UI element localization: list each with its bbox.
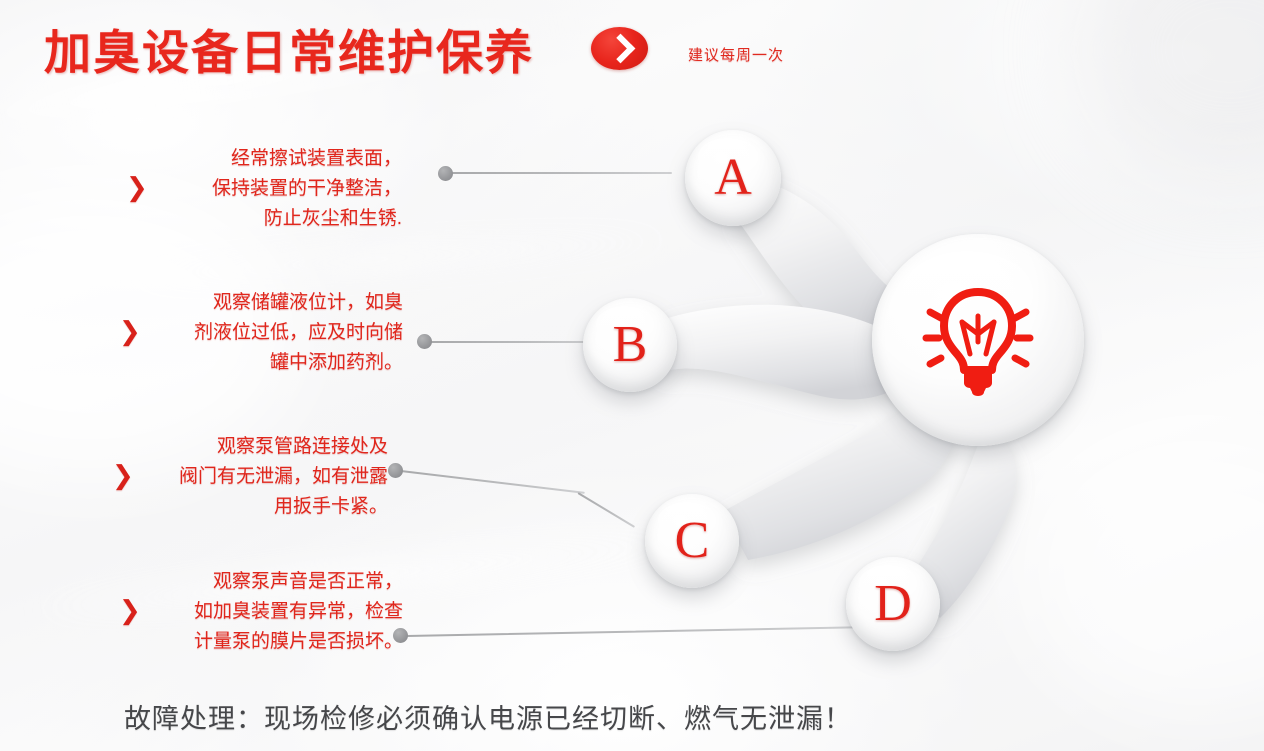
note-c-line-3: 用扳手卡紧。 [138, 492, 388, 522]
note-c: ❯ 观察泵管路连接处及 阀门有无泄漏，如有泄露 用扳手卡紧。 [138, 432, 388, 522]
connector-dot-c [388, 463, 403, 478]
header: 加臭设备日常维护保养 建议每周一次 [0, 0, 1264, 96]
lightbulb-icon [918, 280, 1038, 400]
page-title: 加臭设备日常维护保养 [44, 14, 534, 83]
frequency-note: 建议每周一次 [688, 44, 784, 65]
footer-caution-text: 故障处理：现场检修必须确认电源已经切断、燃气无泄漏！ [124, 697, 852, 736]
note-a-line-2: 保持装置的干净整洁， [152, 174, 402, 204]
bullet-icon-b: ❯ [119, 318, 141, 344]
bullet-icon-c: ❯ [112, 462, 134, 488]
bullet-icon-d: ❯ [119, 597, 141, 623]
infographic-canvas: 加臭设备日常维护保养 建议每周一次 [0, 0, 1264, 751]
connector-dot-b [417, 334, 432, 349]
connector-line-c-2 [577, 492, 635, 528]
node-b[interactable]: B [583, 298, 677, 392]
background-glow-right [1020, 420, 1264, 720]
note-c-line-1: 观察泵管路连接处及 [138, 432, 388, 462]
node-d-label: D [874, 578, 912, 630]
bullet-icon-a: ❯ [126, 174, 148, 200]
node-d[interactable]: D [846, 557, 940, 651]
note-a-line-1: 经常擦试装置表面， [152, 144, 402, 174]
note-c-line-2: 阀门有无泄漏，如有泄露 [138, 462, 388, 492]
note-a: ❯ 经常擦试装置表面， 保持装置的干净整洁， 防止灰尘和生锈. [152, 144, 402, 234]
note-d-line-3: 计量泵的膜片是否损坏。 [145, 627, 403, 657]
connector-line-d [406, 626, 854, 637]
note-d-line-2: 如加臭装置有异常，检查 [145, 597, 403, 627]
note-d: ❯ 观察泵声音是否正常， 如加臭装置有异常，检查 计量泵的膜片是否损坏。 [145, 567, 403, 657]
note-b: ❯ 观察储罐液位计，如臭 剂液位过低，应及时向储 罐中添加药剂。 [145, 288, 403, 378]
note-b-line-1: 观察储罐液位计，如臭 [145, 288, 403, 318]
connector-dot-a [438, 166, 453, 181]
note-a-line-3: 防止灰尘和生锈. [152, 204, 402, 234]
background-streak-mid [120, 228, 680, 287]
node-a-label: A [714, 152, 752, 204]
note-d-line-1: 观察泵声音是否正常， [145, 567, 403, 597]
chevron-right-glyph [606, 34, 636, 64]
note-b-line-3: 罐中添加药剂。 [145, 348, 403, 378]
node-c[interactable]: C [645, 494, 739, 588]
node-a[interactable]: A [685, 130, 781, 226]
connector-line-c-1 [401, 470, 585, 494]
note-b-line-2: 剂液位过低，应及时向储 [145, 318, 403, 348]
chevron-right-circle-icon[interactable] [591, 27, 648, 70]
connector-line-b [430, 341, 598, 343]
node-hub[interactable] [872, 234, 1084, 446]
connector-line-a [450, 172, 672, 174]
node-c-label: C [675, 515, 710, 567]
node-b-label: B [613, 319, 648, 371]
